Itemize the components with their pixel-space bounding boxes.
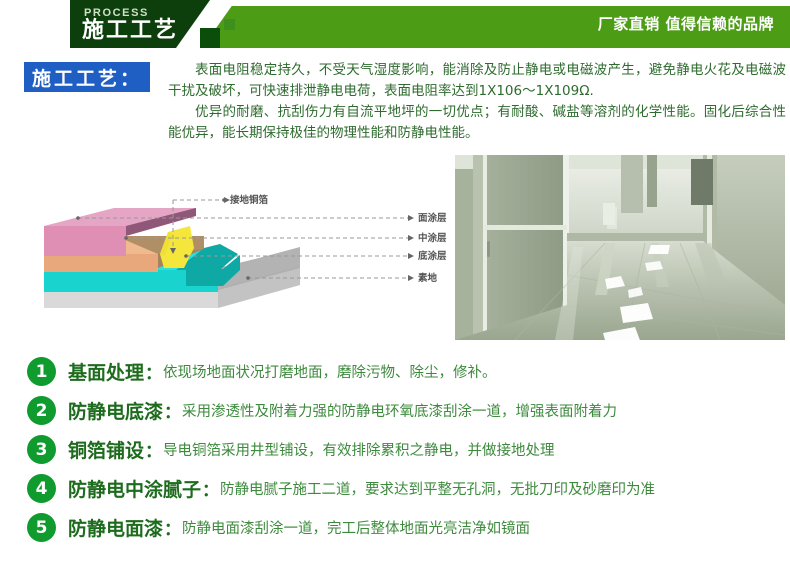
step-number-badge: 3 <box>28 436 55 463</box>
process-step-1: 1 基面处理 ： 依现场地面状况打磨地面，磨除污物、除尘，修补。 <box>0 352 790 391</box>
header-slogan: 厂家直销 值得信赖的品牌 <box>598 13 774 34</box>
step-number-badge: 2 <box>28 397 55 424</box>
floor-layer-diagram: 接地铜箔 面涂层 中涂层 底涂层 素地 <box>8 150 448 350</box>
step-colon: ： <box>164 398 181 423</box>
page-root: PROCESS 施工工艺 厂家直销 值得信赖的品牌 施工工艺： 表面电阻稳定持久… <box>0 0 790 577</box>
step-description: 防静电腻子施工二道，要求达到平整无孔洞，无批刀印及砂磨印为准 <box>220 478 655 499</box>
step-number-badge: 4 <box>28 475 55 502</box>
intro-text-block: 表面电阻稳定持久，不受天气湿度影响，能消除及防止静电或电磁波产生，避免静电火花及… <box>168 60 786 144</box>
step-colon: ： <box>202 476 219 501</box>
page-header: PROCESS 施工工艺 厂家直销 值得信赖的品牌 <box>0 0 790 48</box>
diagram-svg: 接地铜箔 面涂层 中涂层 底涂层 素地 <box>8 150 448 350</box>
step-colon: ： <box>145 359 162 384</box>
step-title: 防静电底漆 <box>68 397 163 424</box>
step-title: 基面处理 <box>68 358 144 385</box>
step-number-badge: 5 <box>28 514 55 541</box>
process-step-5: 5 防静电面漆 ： 防静电面漆刮涂一道，完工后整体地面光亮洁净如镜面 <box>0 508 790 547</box>
step-colon: ： <box>164 515 181 540</box>
media-row: 接地铜箔 面涂层 中涂层 底涂层 素地 <box>0 150 790 350</box>
process-step-2: 2 防静电底漆 ： 采用渗透性及附着力强的防静电环氧底漆刮涂一道，增强表面附着力 <box>0 391 790 430</box>
step-title: 铜箔铺设 <box>68 436 144 463</box>
step-colon: ： <box>145 437 162 462</box>
intro-paragraph-1: 表面电阻稳定持久，不受天气湿度影响，能消除及防止静电或电磁波产生，避免静电火花及… <box>168 60 786 102</box>
photo-illustration <box>455 155 785 340</box>
section-badge: 施工工艺： <box>24 62 150 92</box>
step-description: 依现场地面状况打磨地面，磨除污物、除尘，修补。 <box>163 361 497 382</box>
step-description: 导电铜箔采用井型铺设，有效排除累积之静电，并做接地处理 <box>163 439 555 460</box>
step-title: 防静电中涂腻子 <box>68 475 201 502</box>
process-step-list: 1 基面处理 ： 依现场地面状况打磨地面，磨除污物、除尘，修补。 2 防静电底漆… <box>0 352 790 547</box>
diagram-callout-copper-foil: 接地铜箔 <box>230 194 269 206</box>
step-title: 防静电面漆 <box>68 514 163 541</box>
header-accent-square-large <box>200 28 220 48</box>
project-photo <box>455 155 785 340</box>
step-description: 防静电面漆刮涂一道，完工后整体地面光亮洁净如镜面 <box>182 517 530 538</box>
intro-paragraph-2: 优异的耐磨、抗刮伤力有自流平地坪的一切优点；有耐酸、碱盐等溶剂的化学性能。固化后… <box>168 102 786 144</box>
diagram-label-base-coat: 底涂层 <box>417 250 447 262</box>
diagram-label-mid-coat: 中涂层 <box>418 232 447 244</box>
header-title: 施工工艺 <box>82 19 178 43</box>
process-step-3: 3 铜箔铺设 ： 导电铜箔采用井型铺设，有效排除累积之静电，并做接地处理 <box>0 430 790 469</box>
process-step-4: 4 防静电中涂腻子 ： 防静电腻子施工二道，要求达到平整无孔洞，无批刀印及砂磨印… <box>0 469 790 508</box>
diagram-label-top-coat: 面涂层 <box>418 212 447 224</box>
header-accent-square-small <box>224 19 235 30</box>
diagram-label-substrate: 素地 <box>417 272 438 284</box>
step-description: 采用渗透性及附着力强的防静电环氧底漆刮涂一道，增强表面附着力 <box>182 400 617 421</box>
step-number-badge: 1 <box>28 358 55 385</box>
